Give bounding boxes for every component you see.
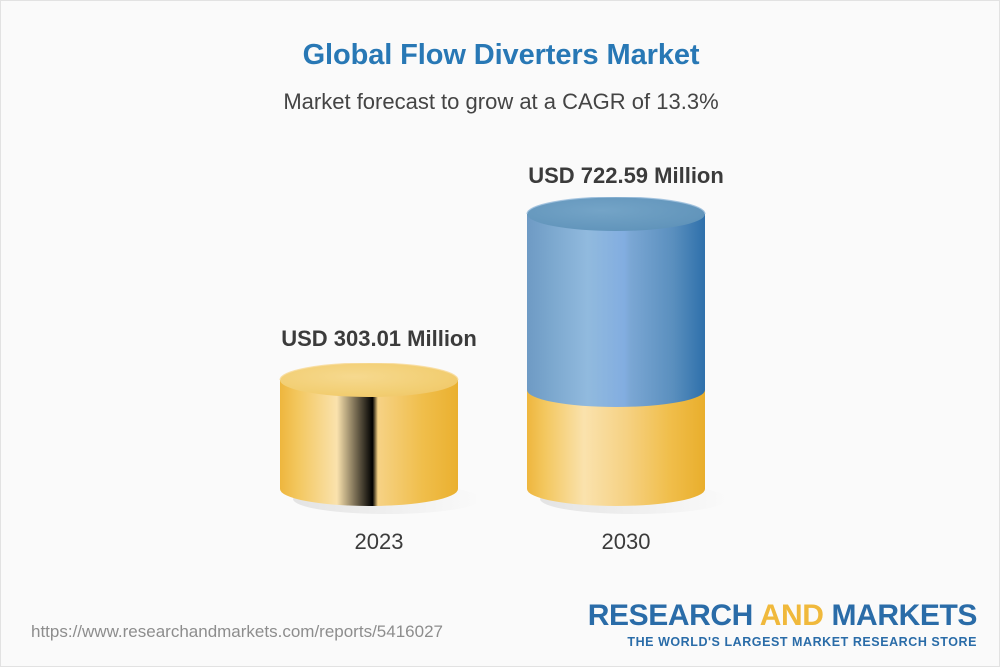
cylinder-2023-svg	[259, 363, 499, 515]
cylinder-2030-svg	[506, 197, 746, 515]
brand-word-and: AND	[753, 599, 832, 632]
cylinder-2023[interactable]	[259, 363, 499, 515]
brand-word-markets: MARKETS	[831, 599, 977, 632]
brand-name: RESEARCH AND MARKETS	[588, 601, 977, 631]
bar-value-label-2030: USD 722.59 Million	[506, 163, 746, 189]
brand-tagline: THE WORLD'S LARGEST MARKET RESEARCH STOR…	[588, 636, 977, 649]
bar-category-label-2030: 2030	[506, 529, 746, 555]
chart-title: Global Flow Diverters Market	[1, 39, 1000, 72]
chart-card: Global Flow Diverters Market Market fore…	[0, 0, 1000, 667]
brand-word-research: RESEARCH	[588, 599, 753, 632]
cylinder-2030[interactable]	[506, 197, 746, 515]
bar-value-label-2023: USD 303.01 Million	[259, 326, 499, 352]
chart-subtitle: Market forecast to grow at a CAGR of 13.…	[1, 89, 1000, 115]
source-url[interactable]: https://www.researchandmarkets.com/repor…	[31, 622, 443, 642]
plot-area: USD 303.01 Million	[1, 131, 1000, 571]
bar-group-2030: USD 722.59 Million	[506, 131, 746, 571]
brand-logo: RESEARCH AND MARKETS THE WORLD'S LARGEST…	[588, 601, 977, 649]
bar-category-label-2023: 2023	[259, 529, 499, 555]
bar-group-2023: USD 303.01 Million	[259, 131, 499, 571]
